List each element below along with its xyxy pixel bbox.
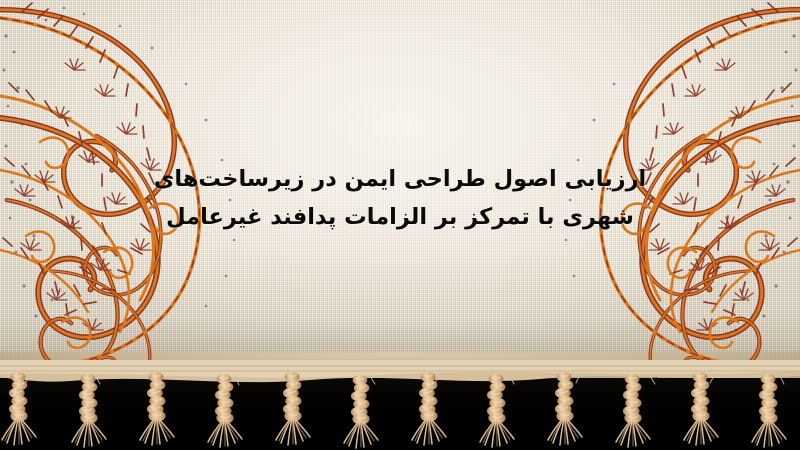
black-backdrop (0, 378, 800, 450)
heading-line-1: ارزیابی اصول طراحی ایمن در زیرساخت‌های (0, 160, 800, 198)
title-slide: ارزیابی اصول طراحی ایمن در زیرساخت‌های ش… (0, 0, 800, 450)
slide-heading: ارزیابی اصول طراحی ایمن در زیرساخت‌های ش… (0, 160, 800, 236)
heading-line-2: شهری با تمرکز بر الزامات پدافند غیرعامل (0, 198, 800, 236)
